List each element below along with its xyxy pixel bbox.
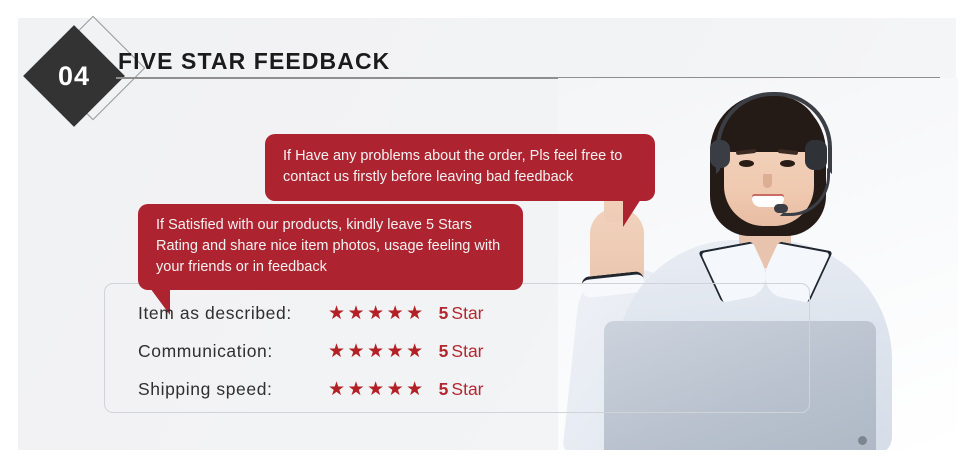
rating-label: Shipping speed: bbox=[138, 379, 328, 400]
rating-score: 5Star bbox=[439, 303, 484, 324]
rating-stars-icon: ★★★★★ bbox=[328, 340, 426, 363]
speech-bubble-problems: If Have any problems about the order, Pl… bbox=[265, 134, 655, 201]
rating-score-unit: Star bbox=[451, 379, 483, 399]
speech-bubble-problems-text: If Have any problems about the order, Pl… bbox=[283, 146, 639, 188]
rating-row: Shipping speed: ★★★★★ 5Star bbox=[138, 370, 568, 408]
speech-bubble-satisfied-text: If Satisfied with our products, kindly l… bbox=[156, 215, 507, 278]
feedback-section: 04 FIVE STAR FEEDBACK bbox=[0, 0, 964, 467]
agent-nose bbox=[763, 174, 772, 188]
laptop-hinge bbox=[858, 436, 867, 445]
rating-score-unit: Star bbox=[451, 341, 483, 361]
headset-earcup-left bbox=[710, 140, 730, 168]
rating-label: Communication: bbox=[138, 341, 328, 362]
rating-score: 5Star bbox=[439, 379, 484, 400]
page-title: FIVE STAR FEEDBACK bbox=[118, 48, 390, 75]
rating-score-number: 5 bbox=[439, 303, 449, 323]
speech-bubble-tail bbox=[623, 199, 641, 227]
headset-mic-tip bbox=[774, 204, 788, 213]
rating-score-number: 5 bbox=[439, 379, 449, 399]
rating-stars-icon: ★★★★★ bbox=[328, 302, 426, 325]
rating-label: Item as described: bbox=[138, 303, 328, 324]
rating-score-unit: Star bbox=[451, 303, 483, 323]
rating-row: Item as described: ★★★★★ 5Star bbox=[138, 294, 568, 332]
rating-row: Communication: ★★★★★ 5Star bbox=[138, 332, 568, 370]
speech-bubble-satisfied: If Satisfied with our products, kindly l… bbox=[138, 204, 523, 290]
rating-stars-icon: ★★★★★ bbox=[328, 378, 426, 401]
rating-score-number: 5 bbox=[439, 341, 449, 361]
content-panel: 04 FIVE STAR FEEDBACK bbox=[18, 18, 956, 450]
badge-number: 04 bbox=[38, 40, 110, 112]
rating-score: 5Star bbox=[439, 341, 484, 362]
ratings-list: Item as described: ★★★★★ 5Star Communica… bbox=[138, 294, 568, 408]
